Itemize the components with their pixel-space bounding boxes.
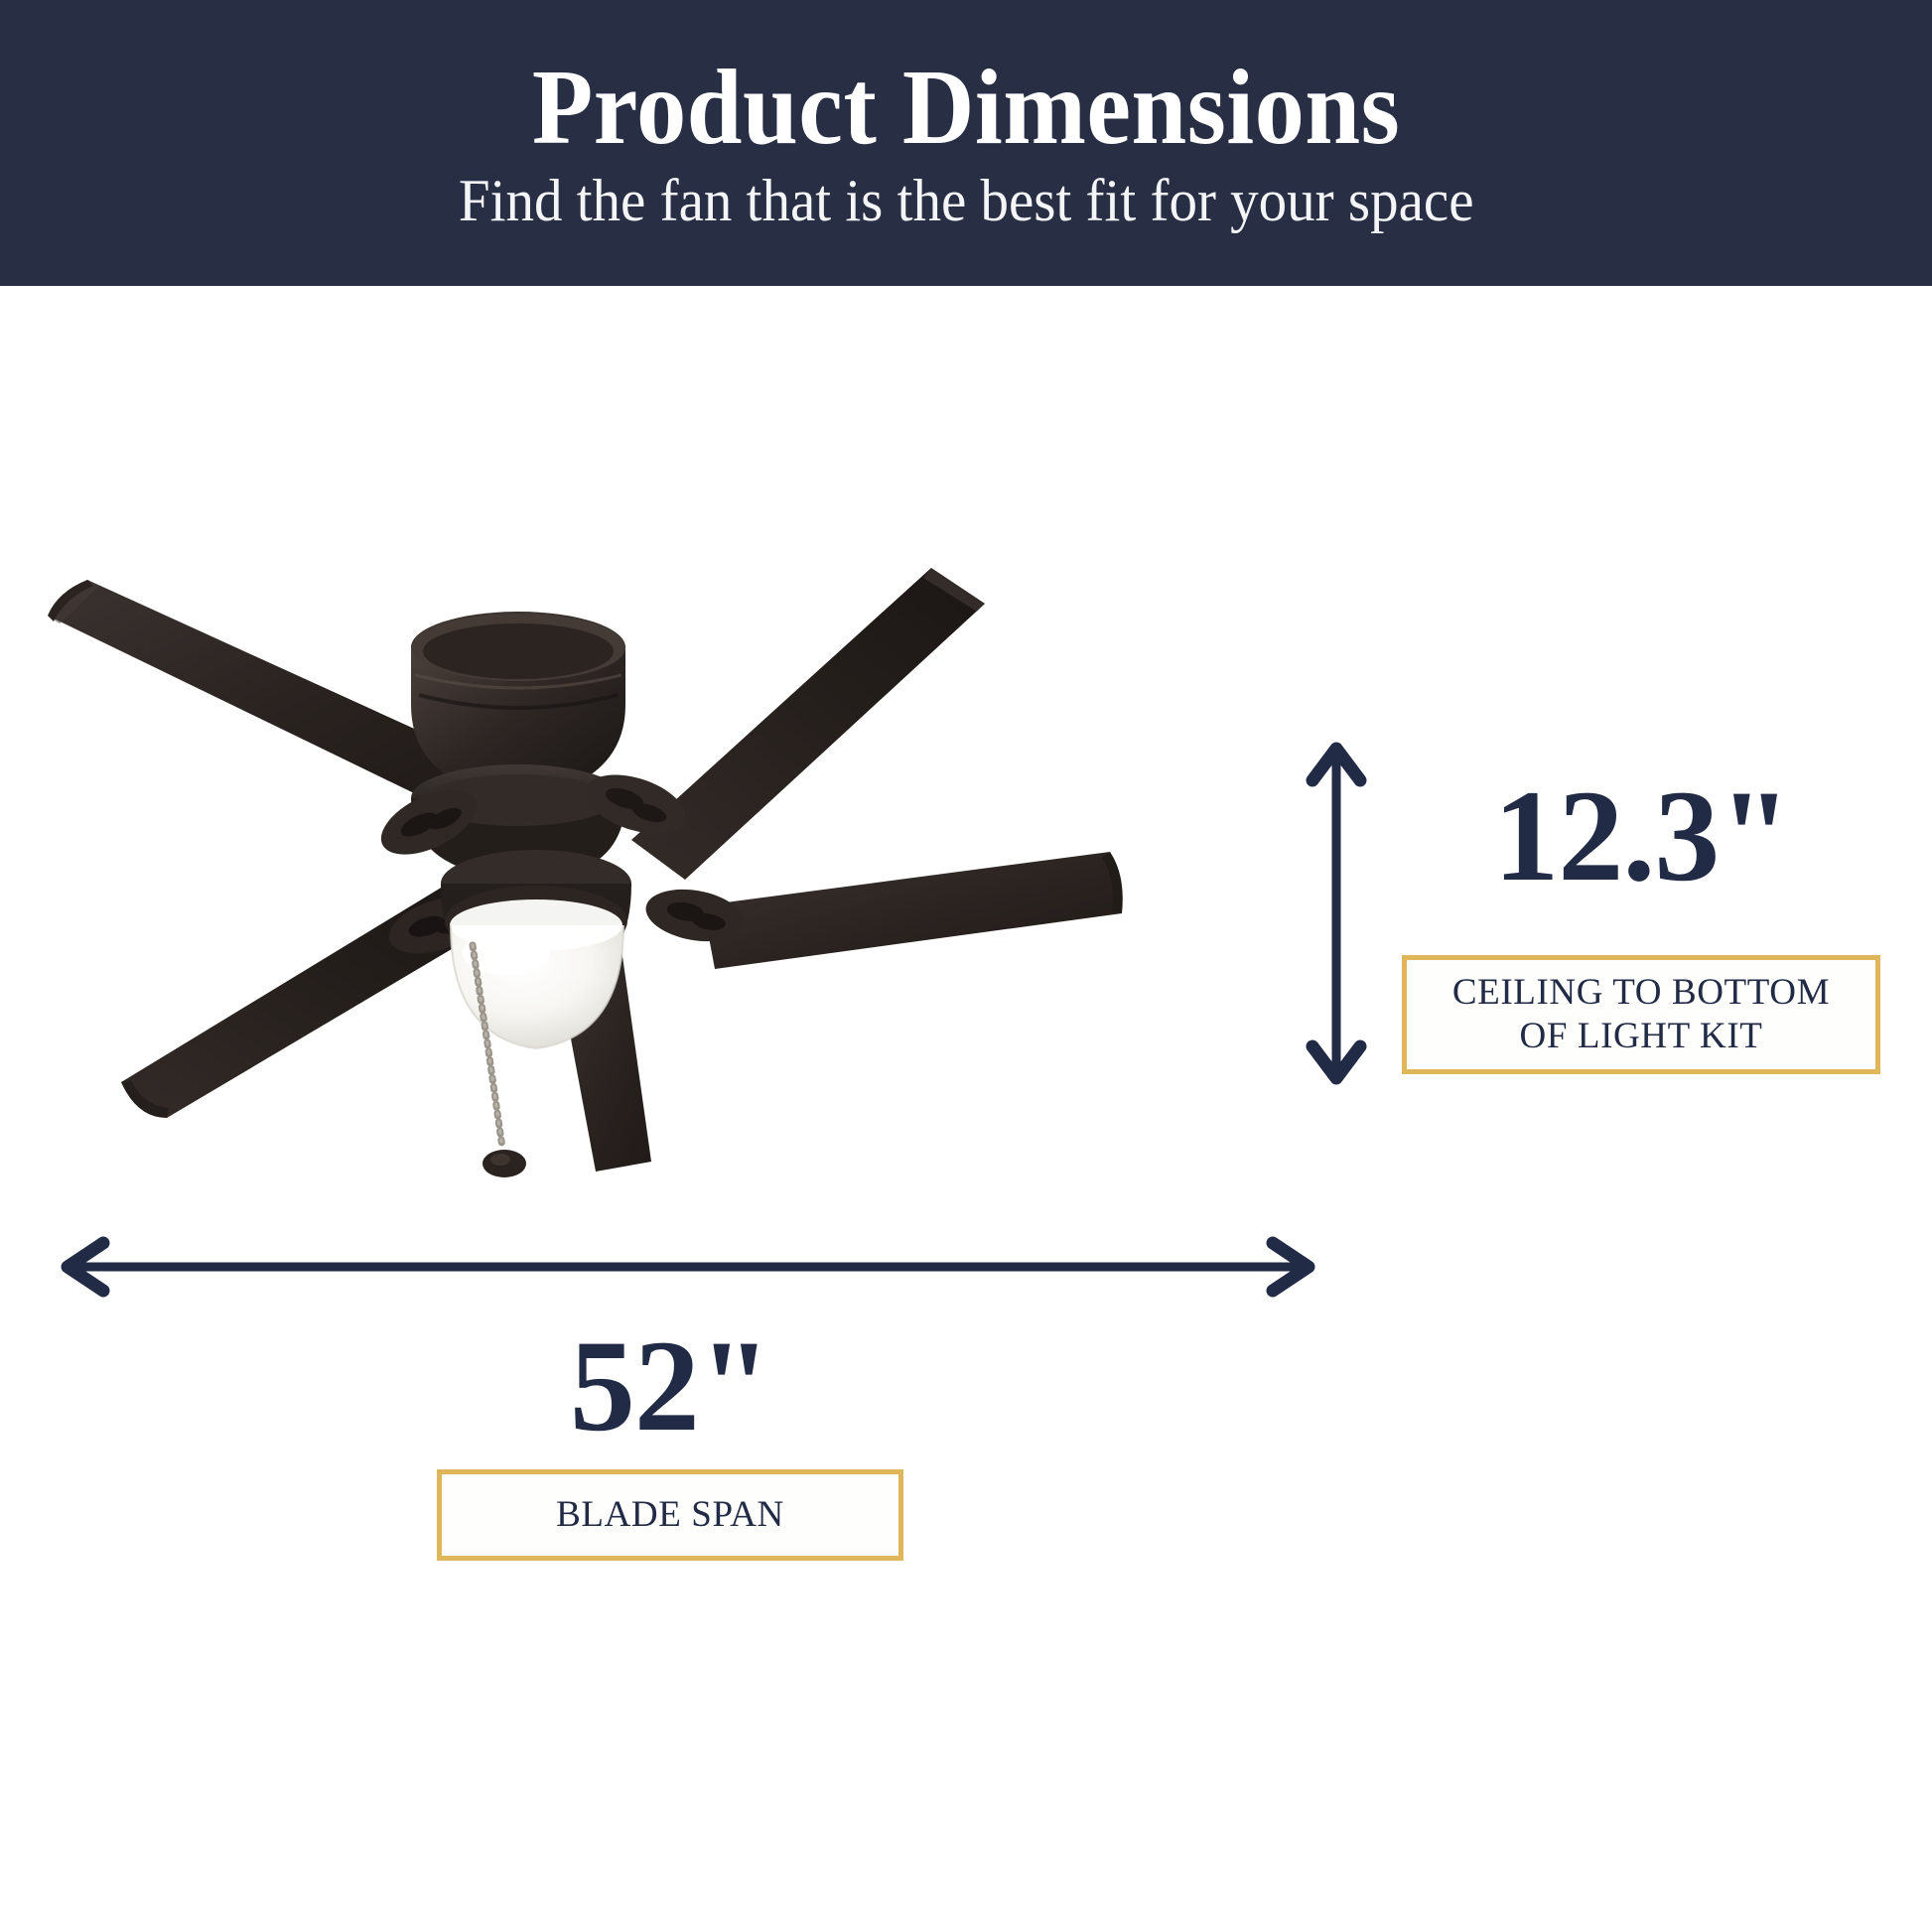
height-callout-label: CEILING TO BOTTOM OF LIGHT KIT [1443,971,1840,1057]
fan-blade-upper-right [631,568,985,880]
blade-span-callout-box: BLADE SPAN [437,1469,903,1561]
height-callout-line1: CEILING TO BOTTOM [1452,972,1830,1013]
height-callout-line2: OF LIGHT KIT [1520,1016,1763,1056]
blade-span-dimension-arrow [48,1229,1328,1305]
height-value: 12.3" [1402,770,1882,901]
product-dimensions-infographic: Product Dimensions Find the fan that is … [0,0,1932,1932]
page-title: Product Dimensions [532,54,1400,163]
blade-span-callout-label: BLADE SPAN [546,1493,794,1537]
blade-span-value: 52" [328,1320,1013,1451]
height-dimension-arrow [1297,737,1376,1090]
header-banner: Product Dimensions Find the fan that is … [0,0,1932,286]
page-subtitle: Find the fan that is the best fit for yo… [459,170,1474,232]
fan-blade-right [703,852,1123,969]
height-callout-box: CEILING TO BOTTOM OF LIGHT KIT [1402,955,1880,1074]
fan-blade-upper-left [48,580,467,806]
ceiling-fan-illustration [40,556,1132,1191]
